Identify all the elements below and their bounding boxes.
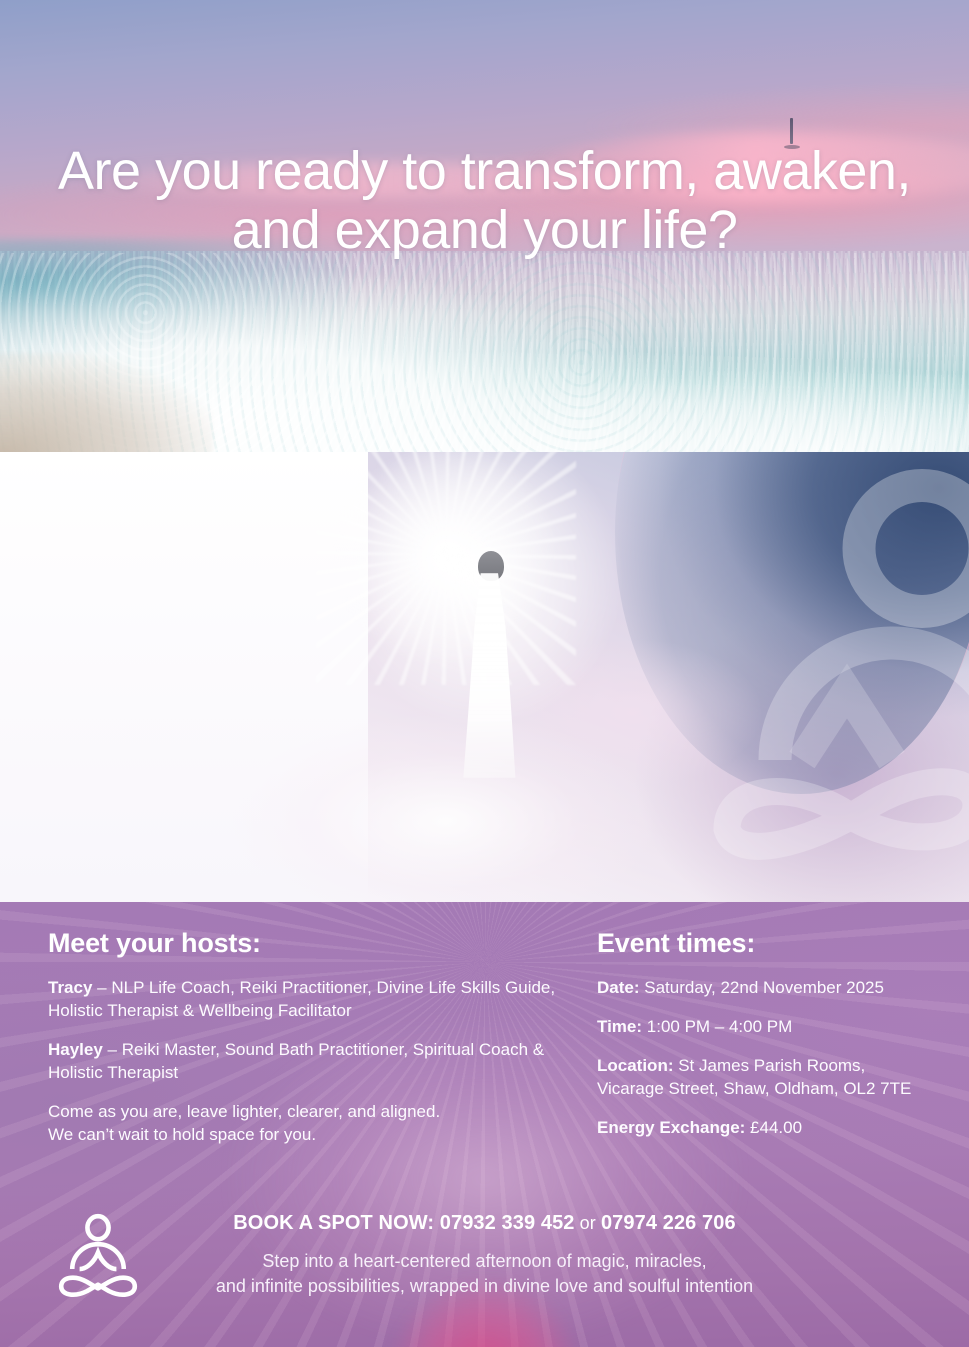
meditation-figure-watermark-icon	[697, 466, 969, 886]
host-hayley: Hayley – Reiki Master, Sound Bath Practi…	[48, 1039, 568, 1085]
event-time-value: 1:00 PM – 4:00 PM	[642, 1017, 792, 1036]
host-tracy: Tracy – NLP Life Coach, Reiki Practition…	[48, 977, 568, 1023]
middle-section-background: What’s waiting for you: Step into a hear…	[0, 452, 969, 902]
booking-cta[interactable]: BOOK A SPOT NOW: 07932 339 452 or 07974 …	[0, 1212, 969, 1235]
paddleboarder-icon	[790, 118, 793, 144]
footer-subtext-line-1: Step into a heart-centered afternoon of …	[262, 1251, 706, 1271]
footer-subtext: Step into a heart-centered afternoon of …	[0, 1249, 969, 1299]
host-hayley-name: Hayley	[48, 1040, 103, 1059]
poster: Are you ready to transform, awaken, and …	[0, 0, 969, 1347]
event-location-row: Location: St James Parish Rooms,Vicarage…	[597, 1055, 937, 1101]
sand-edge	[0, 353, 213, 452]
footer-subtext-line-2: and infinite possibilities, wrapped in d…	[216, 1276, 753, 1296]
hero-title: Are you ready to transform, awaken, and …	[0, 142, 969, 261]
event-time-row: Time: 1:00 PM – 4:00 PM	[597, 1016, 937, 1039]
event-location-line-2: Vicarage Street, Shaw, Oldham, OL2 7TE	[597, 1079, 911, 1098]
hosts-closing-line-1: Come as you are, leave lighter, clearer,…	[48, 1102, 440, 1121]
event-price-value: £44.00	[745, 1118, 802, 1137]
meditation-figure-icon	[52, 1212, 144, 1304]
booking-cta-or: or	[575, 1213, 601, 1233]
event-location-line-1: St James Parish Rooms,	[674, 1056, 866, 1075]
event-date-row: Date: Saturday, 22nd November 2025	[597, 977, 937, 1000]
footer-cta-block: BOOK A SPOT NOW: 07932 339 452 or 07974 …	[0, 1212, 969, 1299]
figure-dress	[458, 573, 520, 778]
meet-your-hosts-block: Meet your hosts: Tracy – NLP Life Coach,…	[48, 928, 568, 1163]
host-hayley-description: – Reiki Master, Sound Bath Practitioner,…	[48, 1040, 544, 1082]
meet-your-hosts-heading: Meet your hosts:	[48, 928, 568, 959]
light-burst	[316, 452, 576, 685]
event-location-label: Location:	[597, 1056, 674, 1075]
event-price-row: Energy Exchange: £44.00	[597, 1117, 937, 1140]
booking-cta-primary: BOOK A SPOT NOW: 07932 339 452	[233, 1212, 574, 1234]
host-tracy-description: – NLP Life Coach, Reiki Practitioner, Di…	[48, 978, 555, 1020]
hero-title-line-2: and expand your life?	[0, 201, 969, 260]
event-date-value: Saturday, 22nd November 2025	[640, 978, 884, 997]
event-price-label: Energy Exchange:	[597, 1118, 745, 1137]
hosts-closing-line-2: We can’t wait to hold space for you.	[48, 1125, 316, 1144]
event-times-block: Event times: Date: Saturday, 22nd Novemb…	[597, 928, 937, 1156]
host-tracy-name: Tracy	[48, 978, 92, 997]
hosts-closing: Come as you are, leave lighter, clearer,…	[48, 1101, 568, 1147]
woman-in-white-figure	[453, 551, 525, 781]
booking-cta-secondary: 07974 226 706	[601, 1212, 736, 1234]
hero-image: Are you ready to transform, awaken, and …	[0, 0, 969, 452]
event-times-heading: Event times:	[597, 928, 937, 959]
event-date-label: Date:	[597, 978, 640, 997]
hero-title-line-1: Are you ready to transform, awaken,	[0, 142, 969, 201]
event-time-label: Time:	[597, 1017, 642, 1036]
